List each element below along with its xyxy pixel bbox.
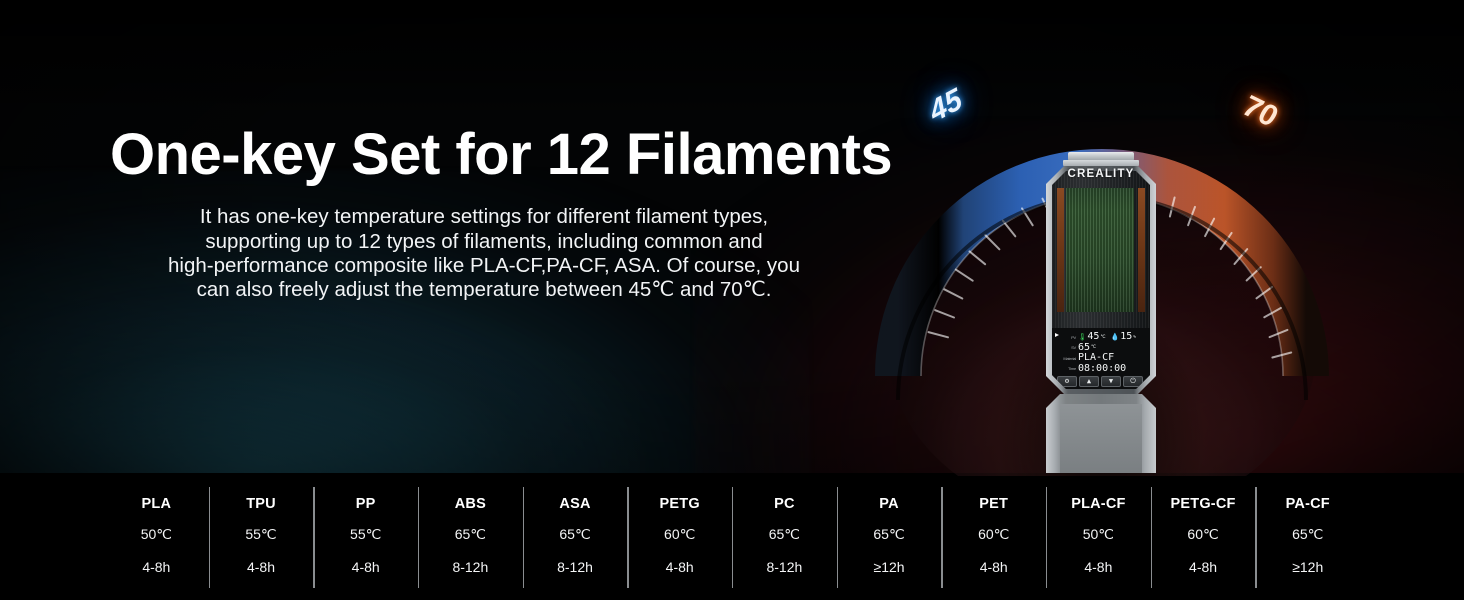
device-lcd-screen: PV 🌡 45 ℃ 💧 15 % SV 65 ℃ Material PLA-CF…	[1052, 328, 1150, 389]
device-pillar-right	[1138, 188, 1145, 312]
filament-type-label: PLA-CF	[1071, 496, 1125, 512]
promo-banner: 45 70 CREALITY PV 🌡 45 ℃ 💧 15 %	[0, 0, 1464, 600]
filament-type-label: PC	[774, 496, 795, 512]
filament-type-label: TPU	[246, 496, 276, 512]
down-button[interactable]: ▼	[1101, 376, 1121, 387]
device-brand-logo: CREALITY	[1040, 168, 1162, 180]
hero-copy: One-key Set for 12 Filaments It has one-…	[110, 124, 858, 302]
lcd-row-pv: PV 🌡 45 ℃ 💧 15 %	[1057, 332, 1146, 342]
table-column: PLA50℃4-8h	[104, 473, 209, 600]
thermometer-icon: 🌡	[1078, 333, 1087, 341]
lcd-row-material: Material PLA-CF	[1057, 353, 1146, 363]
lcd-pv-value: 45	[1087, 332, 1099, 342]
filament-type-label: PETG	[660, 496, 700, 512]
lcd-humidity-unit: %	[1133, 335, 1136, 340]
device-pillar-left	[1057, 188, 1064, 312]
lcd-row-sv: SV 65 ℃	[1057, 343, 1146, 353]
filament-drying-time-value: 4-8h	[142, 559, 170, 575]
filament-drying-time-value: 8-12h	[766, 559, 802, 575]
filament-drying-time-value: 8-12h	[452, 559, 488, 575]
filament-drying-time-value: ≥12h	[1292, 559, 1323, 575]
hero-description: It has one-key temperature settings for …	[110, 205, 858, 302]
lcd-time-value: 08:00:00	[1078, 364, 1126, 374]
table-column: PA65℃≥12h	[837, 473, 942, 600]
lcd-material-label: Material	[1057, 356, 1078, 361]
filament-type-label: PA	[879, 496, 898, 512]
filament-dryer-device: CREALITY PV 🌡 45 ℃ 💧 15 % SV 65 ℃ Mater	[1040, 152, 1162, 473]
filament-drying-time-value: 4-8h	[1189, 559, 1217, 575]
filament-temperature-value: 65℃	[769, 526, 800, 543]
filament-drying-time-value: 4-8h	[666, 559, 694, 575]
filament-temperature-value: 60℃	[1187, 526, 1218, 543]
filament-temperature-value: 55℃	[350, 526, 381, 543]
table-column: PET60℃4-8h	[941, 473, 1046, 600]
filament-temperature-value: 65℃	[1292, 526, 1323, 543]
table-column: PA-CF65℃≥12h	[1255, 473, 1360, 600]
lcd-button-row: ⚙ ▲ ▼ ⏻	[1057, 376, 1143, 387]
lcd-sv-unit: ℃	[1091, 345, 1096, 350]
filament-drying-time-value: 4-8h	[980, 559, 1008, 575]
hero-description-line: It has one-key temperature settings for …	[110, 205, 858, 229]
filament-temperature-value: 50℃	[141, 526, 172, 543]
filament-drying-time-value: ≥12h	[874, 559, 905, 575]
filament-drying-time-value: 4-8h	[352, 559, 380, 575]
lcd-pv-label: PV	[1057, 335, 1078, 340]
filament-temperature-value: 50℃	[1083, 526, 1114, 543]
power-icon: ⏻	[1130, 378, 1136, 385]
filament-drying-time-value: 4-8h	[247, 559, 275, 575]
gauge-min-temp-value: 45	[925, 82, 967, 129]
filament-spool	[1066, 188, 1134, 312]
filament-temperature-value: 60℃	[978, 526, 1009, 543]
filament-temperature-value: 65℃	[455, 526, 486, 543]
table-column: PETG60℃4-8h	[627, 473, 732, 600]
arrow-up-icon: ▲	[1087, 378, 1091, 385]
filament-type-label: ABS	[455, 496, 486, 512]
filament-type-label: ASA	[559, 496, 590, 512]
hero-description-line: can also freely adjust the temperature b…	[110, 278, 858, 302]
gear-icon: ⚙	[1065, 378, 1069, 385]
filament-type-label: PA-CF	[1286, 496, 1330, 512]
filament-type-label: PP	[356, 496, 376, 512]
filament-type-label: PETG-CF	[1171, 496, 1236, 512]
lcd-pv-unit: ℃	[1100, 335, 1105, 340]
filament-temperature-value: 65℃	[559, 526, 590, 543]
filament-temperature-value: 60℃	[664, 526, 695, 543]
filament-type-label: PET	[979, 496, 1008, 512]
filament-temperature-value: 65℃	[873, 526, 904, 543]
filament-settings-table: PLA50℃4-8hTPU55℃4-8hPP55℃4-8hABS65℃8-12h…	[0, 473, 1464, 600]
humidity-droplet-icon: 💧	[1111, 333, 1120, 341]
up-button[interactable]: ▲	[1079, 376, 1099, 387]
table-column: ABS65℃8-12h	[418, 473, 523, 600]
page-title: One-key Set for 12 Filaments	[110, 124, 858, 185]
filament-temperature-value: 55℃	[245, 526, 276, 543]
gauge-max-temp-value: 70	[1239, 89, 1281, 136]
lcd-humidity-value: 15	[1120, 332, 1132, 342]
filament-type-label: PLA	[142, 496, 172, 512]
arrow-down-icon: ▼	[1109, 378, 1113, 385]
table-column: ASA65℃8-12h	[523, 473, 628, 600]
lcd-time-label: Time	[1057, 366, 1078, 371]
lcd-row-time: Time 08:00:00	[1057, 364, 1146, 374]
table-column: TPU55℃4-8h	[209, 473, 314, 600]
lcd-sv-value: 65	[1078, 343, 1090, 353]
device-top-cap-lower	[1063, 160, 1139, 166]
table-column: PETG-CF60℃4-8h	[1151, 473, 1256, 600]
hero-description-line: supporting up to 12 types of filaments, …	[110, 230, 858, 254]
table-column: PLA-CF50℃4-8h	[1046, 473, 1151, 600]
filament-drying-time-value: 4-8h	[1084, 559, 1112, 575]
table-column: PP55℃4-8h	[313, 473, 418, 600]
filament-drying-time-value: 8-12h	[557, 559, 593, 575]
play-icon	[1055, 333, 1059, 337]
lcd-material-value: PLA-CF	[1078, 353, 1114, 363]
lcd-sv-label: SV	[1057, 345, 1078, 350]
device-base-face	[1060, 404, 1142, 473]
hero-description-line: high-performance composite like PLA-CF,P…	[110, 254, 858, 278]
table-column: PC65℃8-12h	[732, 473, 837, 600]
